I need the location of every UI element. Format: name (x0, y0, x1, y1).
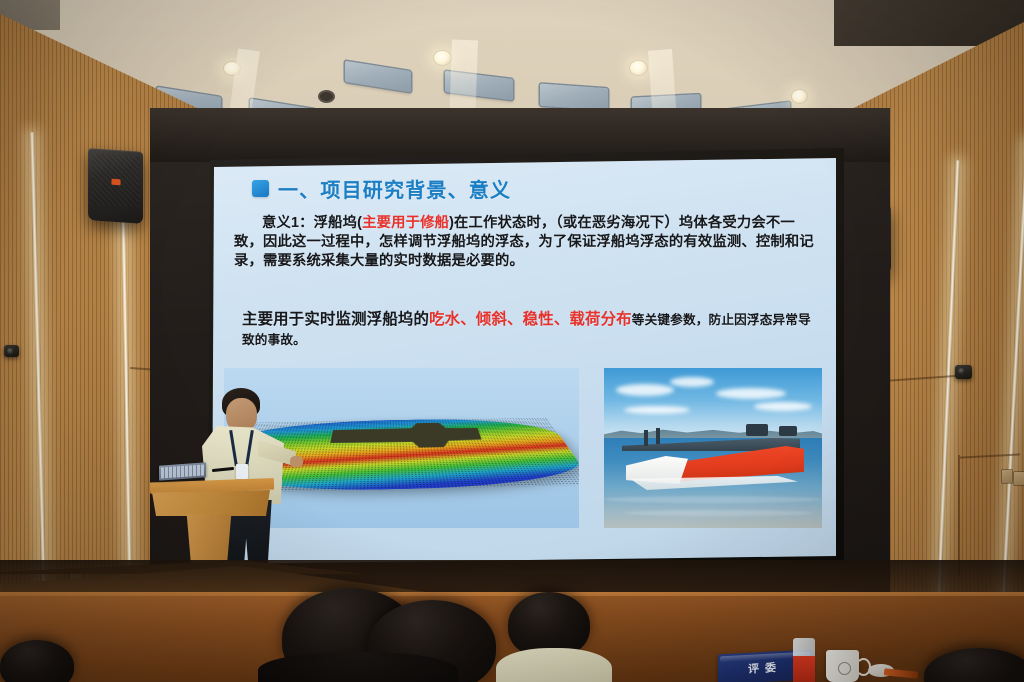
camera-icon (4, 345, 19, 357)
slide-paragraph-2: 主要用于实时监测浮船坞的吃水、倾斜、稳性、载荷分布等关键参数，防止因浮态异常导致… (242, 310, 820, 351)
ceiling-downlight (630, 61, 647, 75)
paragraph-1-highlight: 主要用于修船 (362, 215, 449, 231)
slide-title: 一、项目研究背景、意义 (278, 174, 511, 203)
camera-icon (955, 365, 972, 379)
podium-front-panel (152, 490, 270, 516)
mug-logo (838, 662, 851, 675)
laptop-keyboard (161, 464, 204, 478)
photo-cloud (616, 384, 674, 396)
paragraph-1-lead: 意义1：浮船坞( (262, 215, 362, 231)
dock-crane (644, 430, 648, 446)
wall-outlet (1002, 470, 1012, 483)
photo-cloud (624, 406, 690, 414)
photo-cloud (670, 377, 714, 387)
audience-shoulder (258, 652, 458, 682)
dock-crane (779, 426, 797, 436)
paragraph-2-highlight: 吃水、倾斜、稳性、载荷分布 (429, 311, 632, 328)
microphone (212, 467, 234, 472)
square-bullet-icon (252, 180, 269, 197)
photo-cloud (716, 388, 786, 399)
floating-dock-photo (604, 368, 822, 528)
wall-seam (958, 455, 960, 575)
slide-paragraph-1: 意义1：浮船坞(主要用于修船)在工作状态时，（或在恶劣海况下）坞体各受力会不一致… (234, 214, 820, 271)
slide-title-row: 一、项目研究背景、意义 (252, 174, 511, 203)
ceiling-panel (540, 84, 608, 111)
audience-shoulder (496, 648, 612, 682)
ceiling-downlight (792, 90, 807, 103)
presenter-hand (290, 456, 303, 467)
photo-cloud (754, 402, 812, 411)
wall-outlet (1014, 472, 1024, 485)
dock-crane (656, 428, 660, 444)
dock-crane (746, 424, 768, 436)
bottle-label-red (793, 656, 815, 682)
ceiling-downlight (434, 51, 451, 65)
auditorium-presentation-scene: 一、项目研究背景、意义 意义1：浮船坞(主要用于修船)在工作状态时，（或在恶劣海… (0, 0, 1024, 682)
podium-laptop[interactable] (159, 462, 206, 480)
ceiling-ring-fixture (318, 90, 335, 103)
paragraph-2-lead: 主要用于实时监测浮船坞的 (242, 311, 429, 328)
ceiling-downlight (224, 62, 240, 75)
speaker-grill (92, 153, 139, 207)
photo-wave (624, 510, 814, 516)
photo-wave (604, 496, 822, 503)
speaker-left (88, 148, 143, 224)
